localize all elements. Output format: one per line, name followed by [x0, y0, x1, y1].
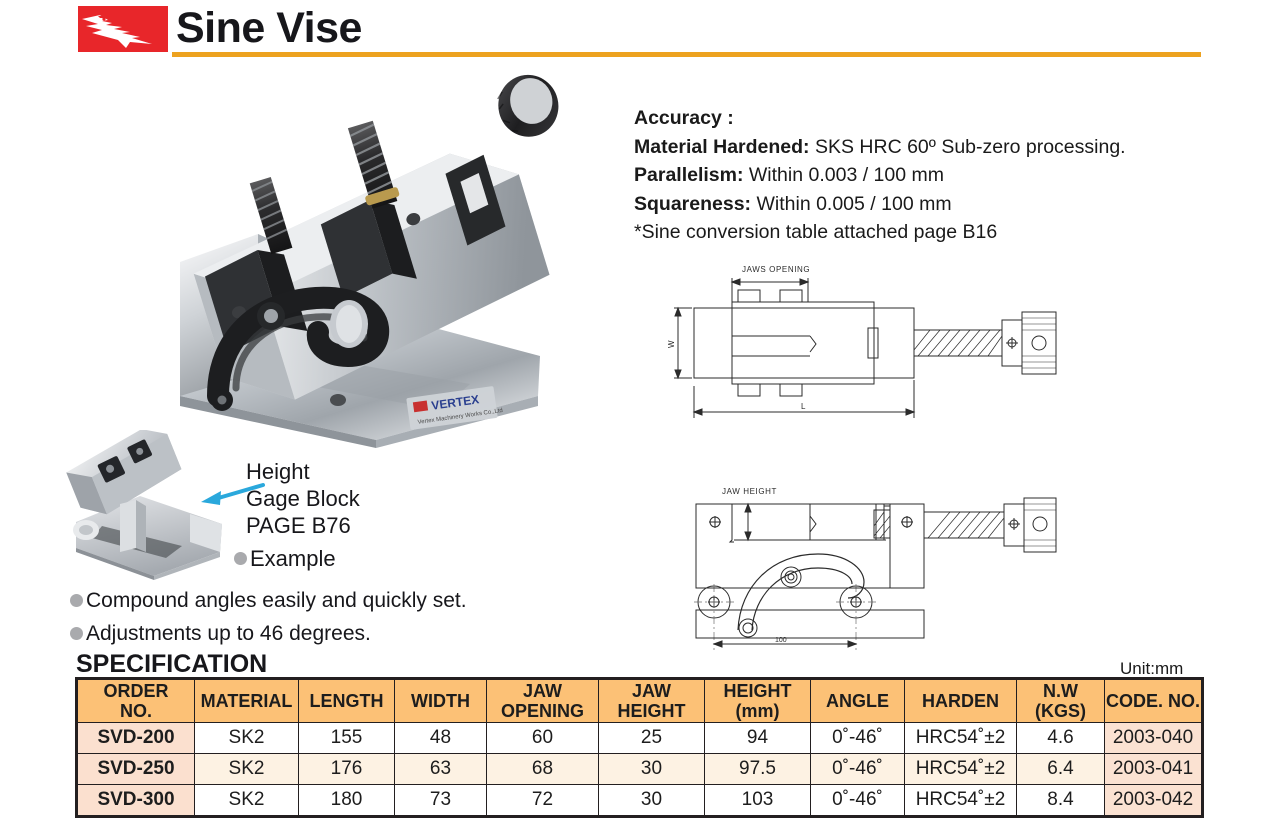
cell-harden: HRC54˚±2 [905, 785, 1017, 817]
col-header-jaw-height: JAW HEIGHT [599, 679, 705, 723]
cell-material: SK2 [195, 723, 299, 754]
cell-angle: 0˚-46˚ [811, 723, 905, 754]
cell-height: 97.5 [705, 754, 811, 785]
accuracy-row-material: Material Hardened: SKS HRC 60º Sub-zero … [634, 133, 1194, 162]
cell-order-no: SVD-250 [77, 754, 195, 785]
accuracy-block: Accuracy : Material Hardened: SKS HRC 60… [634, 104, 1194, 247]
cell-length: 176 [299, 754, 395, 785]
page-header: Sine Vise [0, 0, 1273, 64]
feature-text: Compound angles easily and quickly set. [86, 586, 467, 616]
cell-jaw-height: 30 [599, 754, 705, 785]
accuracy-heading: Accuracy : [634, 104, 1194, 133]
product-photo-sine-vise: VERTEX Vertex Machinery Works Co.,Ltd [140, 66, 580, 448]
cell-material: SK2 [195, 754, 299, 785]
vertex-eagle-logo-icon [78, 6, 168, 52]
cell-nw: 8.4 [1017, 785, 1105, 817]
title-underline-rule [172, 52, 1201, 57]
cell-width: 48 [395, 723, 487, 754]
table-header-row: ORDER NO. MATERIAL LENGTH WIDTH JAW OPEN… [77, 679, 1203, 723]
cell-nw: 6.4 [1017, 754, 1105, 785]
bullet-icon [70, 594, 83, 607]
specification-table: ORDER NO. MATERIAL LENGTH WIDTH JAW OPEN… [75, 677, 1204, 818]
accuracy-value: Within 0.003 / 100 mm [749, 164, 944, 186]
col-header-order-no: ORDER NO. [77, 679, 195, 723]
accuracy-value: SKS HRC 60º Sub-zero processing. [815, 136, 1126, 158]
catalog-page: Sine Vise [0, 0, 1273, 815]
cell-angle: 0˚-46˚ [811, 754, 905, 785]
cell-order-no: SVD-200 [77, 723, 195, 754]
callout-line-3: PAGE B76 [246, 512, 506, 539]
col-header-material: MATERIAL [195, 679, 299, 723]
feature-list: Compound angles easily and quickly set. … [70, 586, 590, 652]
bullet-icon [234, 552, 247, 565]
example-label: Example [250, 545, 336, 572]
cell-harden: HRC54˚±2 [905, 754, 1017, 785]
cell-code-no: 2003-042 [1105, 785, 1203, 817]
bullet-icon [70, 627, 83, 640]
col-header-nw: N.W (KGS) [1017, 679, 1105, 723]
cell-material: SK2 [195, 785, 299, 817]
table-row: SVD-300 SK2 180 73 72 30 103 0˚-46˚ HRC5… [77, 785, 1203, 817]
cell-code-no: 2003-040 [1105, 723, 1203, 754]
accuracy-note: *Sine conversion table attached page B16 [634, 218, 1194, 247]
cell-length: 180 [299, 785, 395, 817]
accuracy-label: Material Hardened: [634, 136, 810, 158]
list-item: Compound angles easily and quickly set. [70, 586, 590, 616]
list-item: Adjustments up to 46 degrees. [70, 619, 590, 649]
cell-width: 63 [395, 754, 487, 785]
col-header-jaw-opening: JAW OPENING [487, 679, 599, 723]
table-row: SVD-250 SK2 176 63 68 30 97.5 0˚-46˚ HRC… [77, 754, 1203, 785]
dim-label-length: L [801, 402, 806, 411]
cell-width: 73 [395, 785, 487, 817]
dim-label-jaw-height: JAW HEIGHT [722, 487, 777, 496]
cell-harden: HRC54˚±2 [905, 723, 1017, 754]
cell-angle: 0˚-46˚ [811, 785, 905, 817]
cell-jaw-height: 25 [599, 723, 705, 754]
cell-height: 94 [705, 723, 811, 754]
cell-jaw-opening: 60 [487, 723, 599, 754]
cell-length: 155 [299, 723, 395, 754]
accuracy-label: Squareness: [634, 193, 751, 215]
callout-line-1: Height [246, 458, 506, 485]
feature-text: Adjustments up to 46 degrees. [86, 619, 371, 649]
technical-drawing-top-view: JAWS OPENING W [660, 258, 1070, 438]
cell-jaw-height: 30 [599, 785, 705, 817]
specification-heading: SPECIFICATION [76, 650, 267, 679]
callout-line-2: Gage Block [246, 485, 506, 512]
cell-order-no: SVD-300 [77, 785, 195, 817]
col-header-height: HEIGHT (mm) [705, 679, 811, 723]
accuracy-value: Within 0.005 / 100 mm [756, 193, 951, 215]
table-row: SVD-200 SK2 155 48 60 25 94 0˚-46˚ HRC54… [77, 723, 1203, 754]
cell-code-no: 2003-041 [1105, 754, 1203, 785]
technical-drawing-side-view: JAW HEIGHT [660, 458, 1070, 658]
col-header-angle: ANGLE [811, 679, 905, 723]
col-header-harden: HARDEN [905, 679, 1017, 723]
unit-label: Unit:mm [1120, 659, 1183, 679]
accuracy-row-squareness: Squareness: Within 0.005 / 100 mm [634, 190, 1194, 219]
cell-jaw-opening: 72 [487, 785, 599, 817]
dim-label-base-100: 100 [775, 637, 787, 644]
accuracy-row-parallelism: Parallelism: Within 0.003 / 100 mm [634, 161, 1194, 190]
dim-label-width: W [667, 340, 676, 348]
example-label-row: Example [234, 545, 336, 572]
height-gage-callout: Height Gage Block PAGE B76 [246, 458, 506, 539]
accuracy-label: Parallelism: [634, 164, 743, 186]
col-header-width: WIDTH [395, 679, 487, 723]
dim-label-jaws-opening: JAWS OPENING [742, 265, 810, 274]
cell-jaw-opening: 68 [487, 754, 599, 785]
page-title: Sine Vise [176, 4, 362, 52]
cell-nw: 4.6 [1017, 723, 1105, 754]
col-header-code-no: CODE. NO. [1105, 679, 1203, 723]
col-header-length: LENGTH [299, 679, 395, 723]
cell-height: 103 [705, 785, 811, 817]
